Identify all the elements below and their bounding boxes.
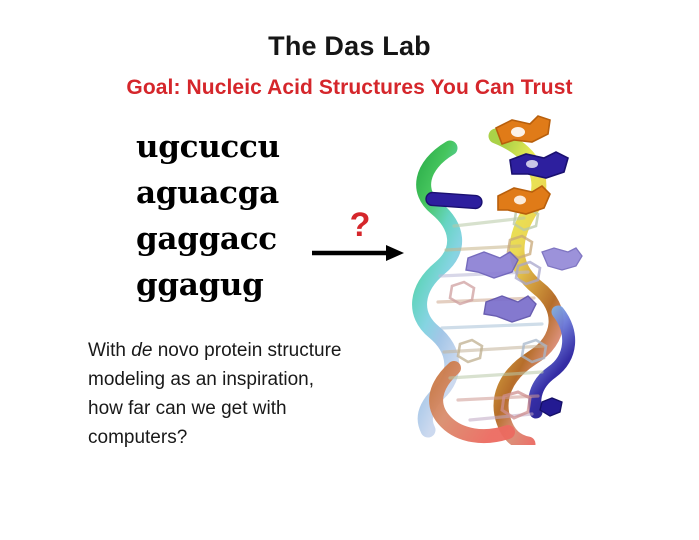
rna-base-pair-rungs	[438, 218, 544, 420]
rna-structure-figure	[392, 100, 592, 445]
body-text-part-1: With	[88, 340, 131, 361]
body-paragraph: With de novo protein structure modeling …	[88, 336, 348, 452]
body-text-italic: de	[131, 340, 152, 361]
slide-canvas: The Das Lab Goal: Nucleic Acid Structure…	[0, 0, 699, 540]
rna-sequence-block: ugcuccu aguacga gaggacc ggagug	[136, 124, 346, 308]
page-subtitle: Goal: Nucleic Acid Structures You Can Tr…	[0, 75, 699, 101]
rna-base-bottom-blue	[540, 398, 562, 416]
sequence-line: ugcuccu	[136, 124, 346, 170]
page-title: The Das Lab	[0, 30, 699, 62]
right-arrow-icon	[312, 240, 404, 266]
sequence-line: aguacga	[136, 170, 346, 216]
question-mark-annotation: ?	[340, 206, 380, 244]
sequence-line: ggagug	[136, 262, 346, 308]
rna-helix-illustration	[392, 100, 592, 445]
